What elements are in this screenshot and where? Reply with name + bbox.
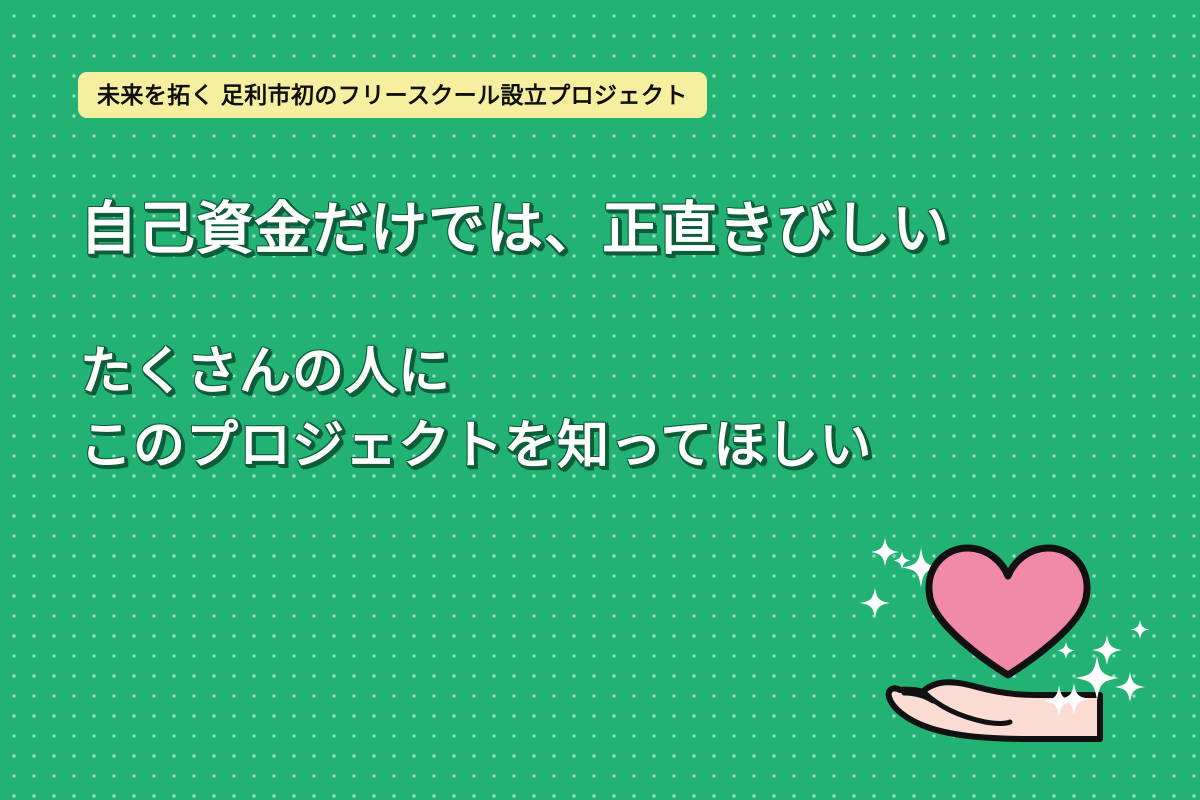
hand-icon [889, 682, 1100, 739]
sparkle-icon [1115, 672, 1145, 702]
project-badge-label: 未来を拓く 足利市初のフリースクール設立プロジェクト [97, 84, 688, 107]
heart-icon [929, 548, 1087, 675]
sparkle-icon [871, 538, 899, 566]
sparkle-icon [1131, 620, 1150, 639]
sparkle-icon [1058, 642, 1075, 659]
headline-line-3: このプロジェクトを知ってほしい [80, 410, 980, 484]
headline-line-2: たくさんの人に [80, 336, 980, 410]
headline-block-secondary: たくさんの人に このプロジェクトを知ってほしい [80, 336, 980, 484]
slide-canvas: 未来を拓く 足利市初のフリースクール設立プロジェクト 自己資金だけでは、正直きび… [0, 0, 1200, 800]
sparkle-icon [860, 588, 890, 618]
heart-in-hand-illustration [845, 520, 1185, 780]
headline-block-primary: 自己資金だけでは、正直きびしい [80, 196, 980, 263]
project-badge: 未来を拓く 足利市初のフリースクール設立プロジェクト [78, 72, 707, 118]
headline-line-1: 自己資金だけでは、正直きびしい [80, 196, 980, 263]
